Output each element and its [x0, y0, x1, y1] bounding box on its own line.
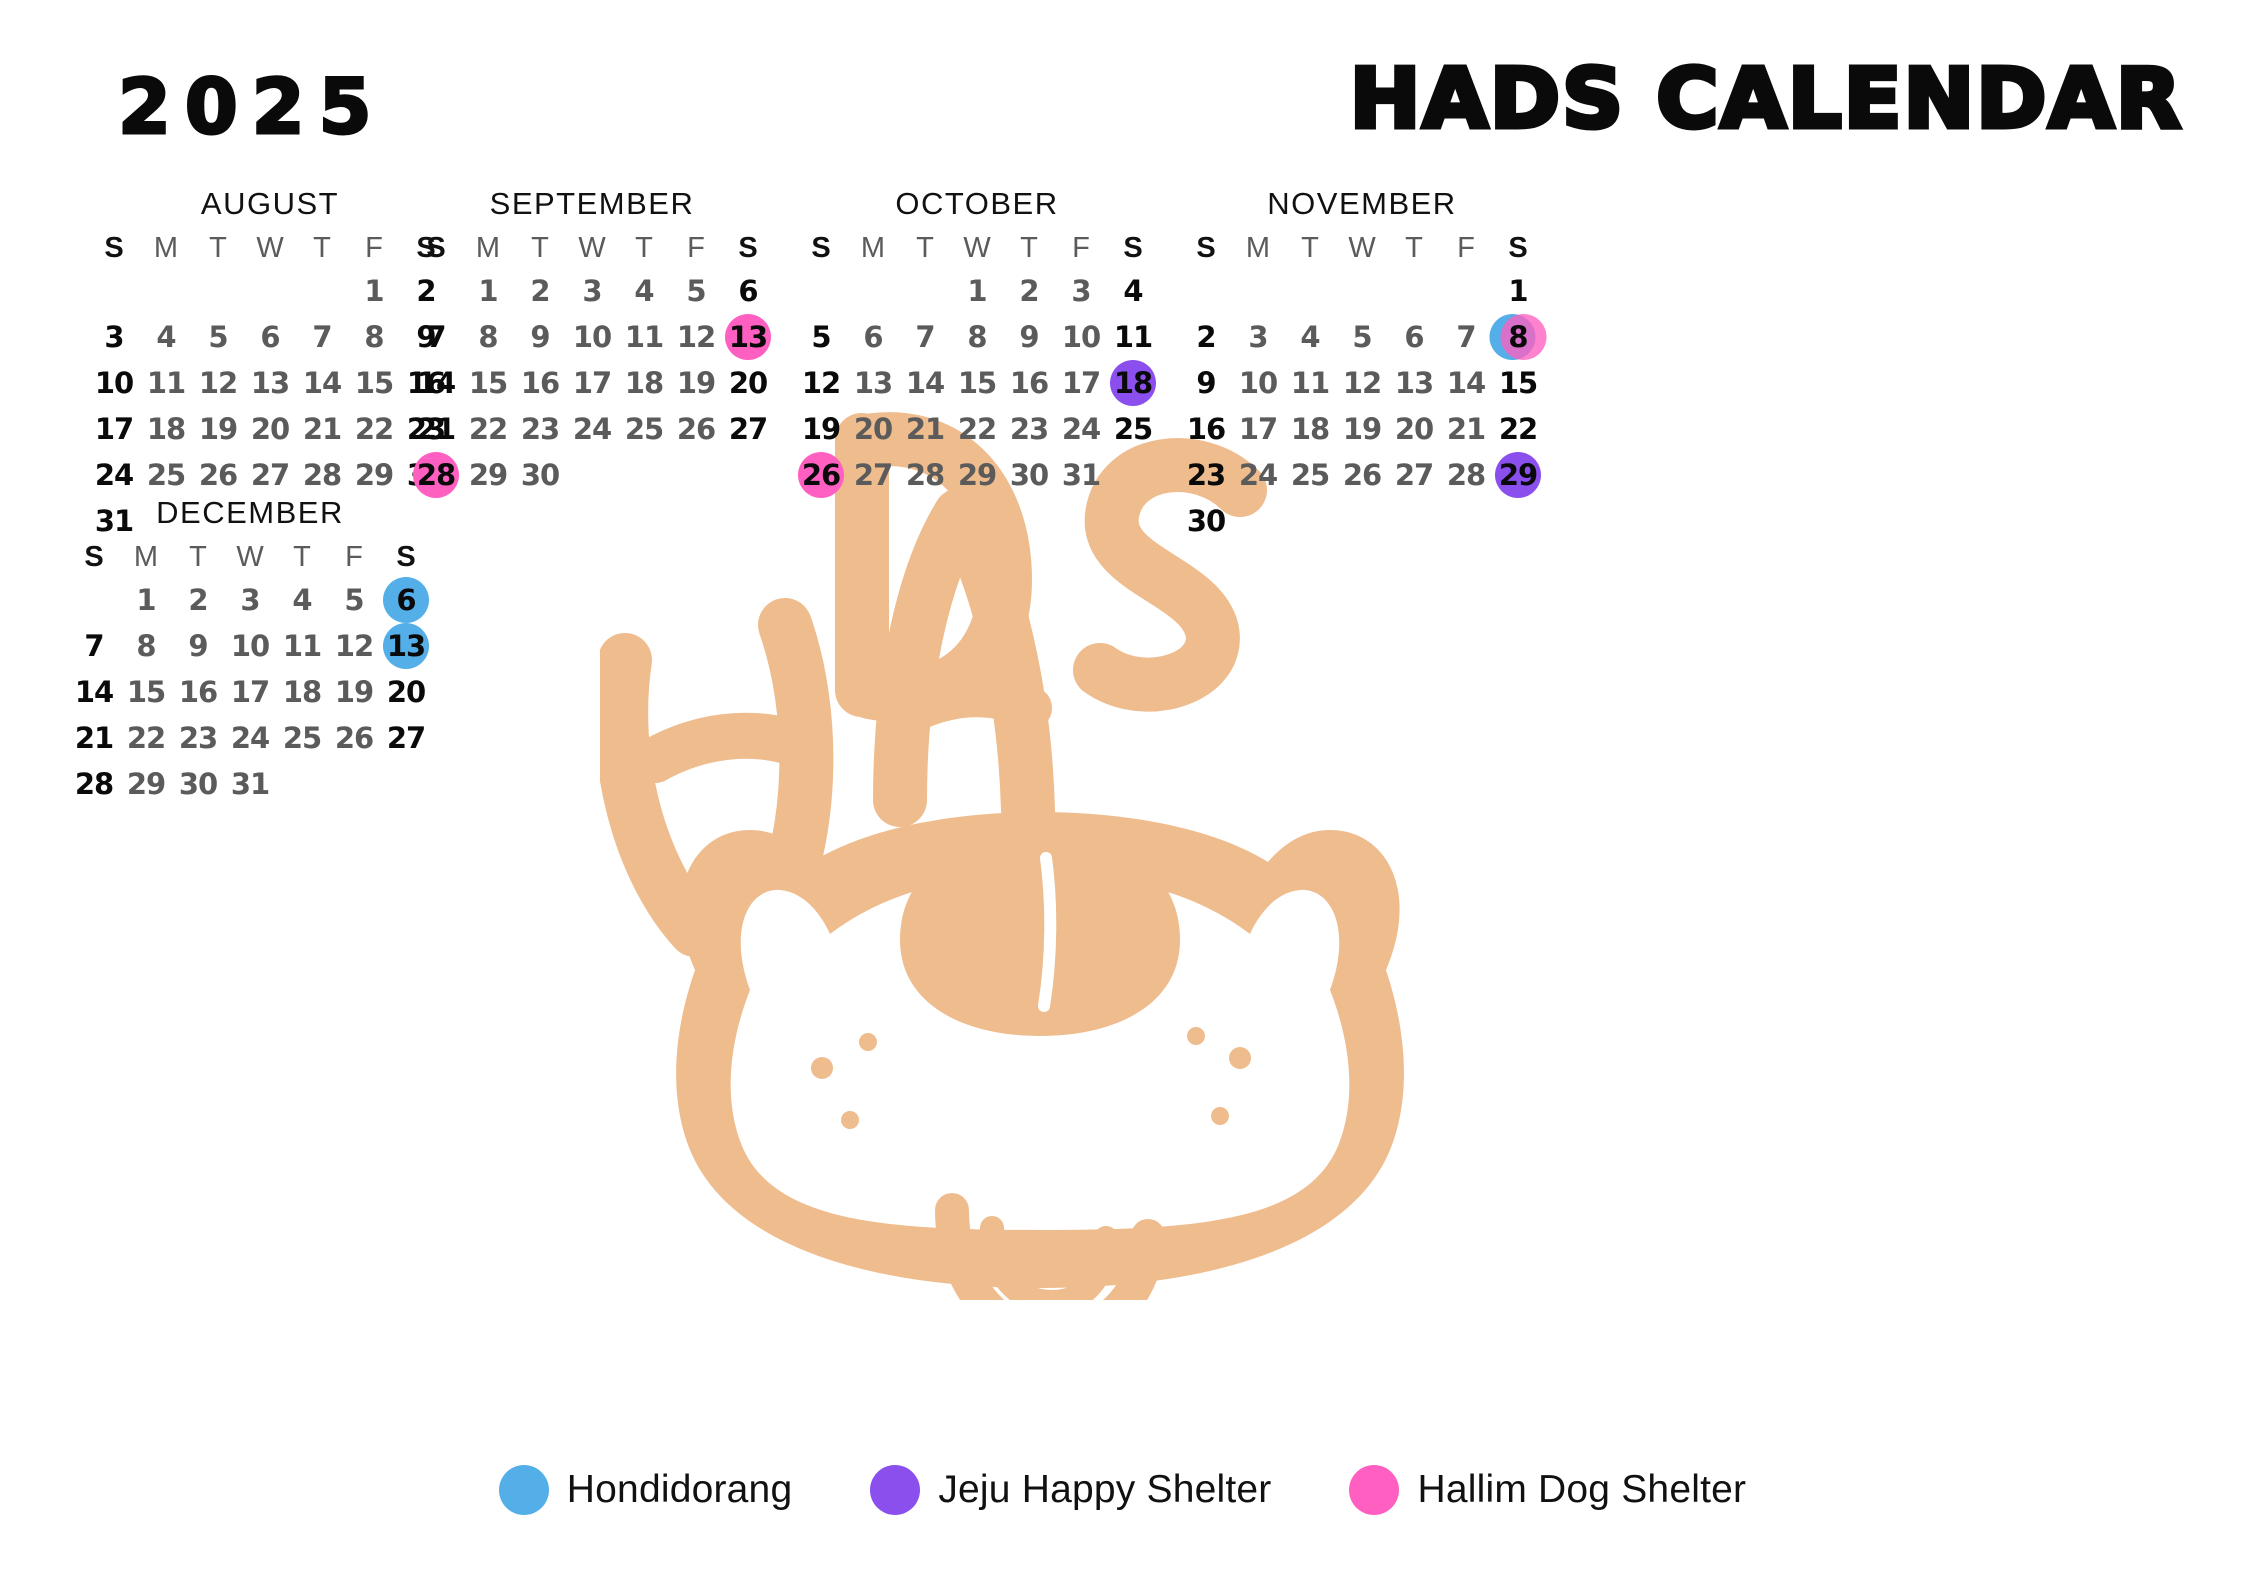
calendar-day-august-18[interactable]: 18 — [140, 406, 192, 452]
calendar-day-november-12[interactable]: 12 — [1336, 360, 1388, 406]
calendar-day-october-8[interactable]: 8 — [951, 314, 1003, 360]
calendar-day-october-27[interactable]: 27 — [847, 452, 899, 498]
calendar-day-december-14[interactable]: 14 — [68, 669, 120, 715]
day-number: 31 — [231, 761, 269, 807]
calendar-day-september-24[interactable]: 24 — [566, 406, 618, 452]
legend-item-hallim-dog-shelter: Hallim Dog Shelter — [1349, 1465, 1746, 1515]
calendar-day-august-8[interactable]: 8 — [348, 314, 400, 360]
day-number: 28 — [1447, 452, 1485, 498]
legend: HondidorangJeju Happy ShelterHallim Dog … — [0, 1465, 2245, 1515]
day-number: 2 — [1196, 314, 1215, 360]
calendar-week-row: 28293031 — [68, 761, 432, 807]
day-number: 19 — [199, 406, 237, 452]
calendar-day-september-19[interactable]: 19 — [670, 360, 722, 406]
calendar-day-november-4[interactable]: 4 — [1284, 314, 1336, 360]
calendar-day-october-19[interactable]: 19 — [795, 406, 847, 452]
day-number: 25 — [625, 406, 663, 452]
calendar-day-october-22[interactable]: 22 — [951, 406, 1003, 452]
calendar-day-september-30[interactable]: 30 — [514, 452, 566, 498]
day-number: 24 — [1062, 406, 1100, 452]
calendar-day-november-3[interactable]: 3 — [1232, 314, 1284, 360]
calendar-day-october-2[interactable]: 2 — [1003, 268, 1055, 314]
day-number: 24 — [573, 406, 611, 452]
day-number: 1 — [967, 268, 986, 314]
weekday-header-2: T — [899, 228, 951, 268]
calendar-day-december-18[interactable]: 18 — [276, 669, 328, 715]
day-number: 23 — [179, 715, 217, 761]
year-label: 2025 — [118, 62, 386, 151]
calendar-day-august-21[interactable]: 21 — [296, 406, 348, 452]
weekday-header-6: S — [1492, 228, 1544, 268]
calendar-day-november-8[interactable]: 8 — [1492, 314, 1544, 360]
day-number: 28 — [906, 452, 944, 498]
day-number: 25 — [283, 715, 321, 761]
day-number: 17 — [573, 360, 611, 406]
calendar-day-august-14[interactable]: 14 — [296, 360, 348, 406]
day-number: 29 — [1499, 452, 1537, 498]
calendar-day-november-11[interactable]: 11 — [1284, 360, 1336, 406]
calendar-day-october-15[interactable]: 15 — [951, 360, 1003, 406]
calendar-week-row: 78910111213 — [68, 623, 432, 669]
weekday-header-row: SMTWTFS — [88, 228, 452, 268]
day-number: 4 — [156, 314, 175, 360]
day-number: 20 — [251, 406, 289, 452]
day-number: 19 — [335, 669, 373, 715]
day-number: 4 — [292, 577, 311, 623]
calendar-day-november-30[interactable]: 30 — [1180, 498, 1232, 544]
weekday-header-3: W — [224, 537, 276, 577]
calendar-day-august-28[interactable]: 28 — [296, 452, 348, 498]
day-number: 6 — [863, 314, 882, 360]
month-block-december: DECEMBERSMTWTFS1234567891011121314151617… — [68, 495, 432, 807]
calendar-day-empty — [847, 268, 899, 314]
calendar-day-august-25[interactable]: 25 — [140, 452, 192, 498]
calendar-day-december-23[interactable]: 23 — [172, 715, 224, 761]
day-number: 25 — [1114, 406, 1152, 452]
calendar-day-september-20[interactable]: 20 — [722, 360, 774, 406]
calendar-day-december-25[interactable]: 25 — [276, 715, 328, 761]
calendar-day-empty — [192, 268, 244, 314]
calendar-day-december-15[interactable]: 15 — [120, 669, 172, 715]
day-number: 1 — [136, 577, 155, 623]
calendar-day-september-8[interactable]: 8 — [462, 314, 514, 360]
day-number: 18 — [283, 669, 321, 715]
calendar-day-november-2[interactable]: 2 — [1180, 314, 1232, 360]
weekday-header-1: M — [140, 228, 192, 268]
calendar-week-row: 24252627282930 — [88, 452, 452, 498]
day-number: 23 — [1187, 452, 1225, 498]
legend-label: Jeju Happy Shelter — [938, 1468, 1271, 1512]
calendar-day-empty — [296, 268, 348, 314]
day-number: 16 — [179, 669, 217, 715]
calendar-day-september-17[interactable]: 17 — [566, 360, 618, 406]
calendar-day-august-11[interactable]: 11 — [140, 360, 192, 406]
calendar-day-october-12[interactable]: 12 — [795, 360, 847, 406]
calendar-day-empty — [1336, 268, 1388, 314]
calendar-day-november-26[interactable]: 26 — [1336, 452, 1388, 498]
calendar-day-october-5[interactable]: 5 — [795, 314, 847, 360]
calendar-day-september-16[interactable]: 16 — [514, 360, 566, 406]
calendar-day-september-23[interactable]: 23 — [514, 406, 566, 452]
day-number: 13 — [854, 360, 892, 406]
calendar-day-december-5[interactable]: 5 — [328, 577, 380, 623]
weekday-header-5: F — [670, 228, 722, 268]
calendar-day-october-18[interactable]: 18 — [1107, 360, 1159, 406]
calendar-week-row: 78910111213 — [410, 314, 774, 360]
day-number: 8 — [136, 623, 155, 669]
calendar-day-november-5[interactable]: 5 — [1336, 314, 1388, 360]
day-number: 4 — [1123, 268, 1142, 314]
calendar-day-empty — [1388, 498, 1440, 544]
calendar-day-october-4[interactable]: 4 — [1107, 268, 1159, 314]
weekday-header-row: SMTWTFS — [410, 228, 774, 268]
calendar-day-august-17[interactable]: 17 — [88, 406, 140, 452]
calendar-day-september-28[interactable]: 28 — [410, 452, 462, 498]
calendar-day-september-29[interactable]: 29 — [462, 452, 514, 498]
day-number: 5 — [1352, 314, 1371, 360]
day-number: 7 — [312, 314, 331, 360]
calendar-day-september-7[interactable]: 7 — [410, 314, 462, 360]
weekday-header-5: F — [328, 537, 380, 577]
day-number: 5 — [811, 314, 830, 360]
day-number: 19 — [677, 360, 715, 406]
calendar-day-august-6[interactable]: 6 — [244, 314, 296, 360]
calendar-day-august-29[interactable]: 29 — [348, 452, 400, 498]
calendar-day-october-28[interactable]: 28 — [899, 452, 951, 498]
day-number: 6 — [396, 577, 415, 623]
calendar-day-december-10[interactable]: 10 — [224, 623, 276, 669]
calendar-week-row: 14151617181920 — [68, 669, 432, 715]
day-number: 13 — [1395, 360, 1433, 406]
day-number: 18 — [1291, 406, 1329, 452]
day-number: 26 — [335, 715, 373, 761]
day-number: 9 — [1019, 314, 1038, 360]
calendar-day-december-21[interactable]: 21 — [68, 715, 120, 761]
calendar-day-october-24[interactable]: 24 — [1055, 406, 1107, 452]
calendar-day-september-22[interactable]: 22 — [462, 406, 514, 452]
calendar-day-december-22[interactable]: 22 — [120, 715, 172, 761]
calendar-day-october-6[interactable]: 6 — [847, 314, 899, 360]
calendar-day-december-26[interactable]: 26 — [328, 715, 380, 761]
calendar-day-december-31[interactable]: 31 — [224, 761, 276, 807]
day-number: 15 — [1499, 360, 1537, 406]
calendar-day-october-30[interactable]: 30 — [1003, 452, 1055, 498]
calendar-day-august-12[interactable]: 12 — [192, 360, 244, 406]
calendar-day-august-13[interactable]: 13 — [244, 360, 296, 406]
day-number: 9 — [530, 314, 549, 360]
calendar-day-november-15[interactable]: 15 — [1492, 360, 1544, 406]
calendar-day-september-14[interactable]: 14 — [410, 360, 462, 406]
calendar-week-row: 2345678 — [1180, 314, 1544, 360]
calendar-week-row: 14151617181920 — [410, 360, 774, 406]
calendar-day-empty — [670, 452, 722, 498]
calendar-day-november-14[interactable]: 14 — [1440, 360, 1492, 406]
calendar-grid-december: SMTWTFS123456789101112131415161718192021… — [68, 537, 432, 807]
day-number: 1 — [364, 268, 383, 314]
weekday-header-5: F — [1440, 228, 1492, 268]
day-number: 7 — [1456, 314, 1475, 360]
calendar-day-october-17[interactable]: 17 — [1055, 360, 1107, 406]
calendar-day-november-21[interactable]: 21 — [1440, 406, 1492, 452]
calendar-day-august-22[interactable]: 22 — [348, 406, 400, 452]
calendar-day-september-10[interactable]: 10 — [566, 314, 618, 360]
day-number: 30 — [1010, 452, 1048, 498]
calendar-day-october-1[interactable]: 1 — [951, 268, 1003, 314]
day-number: 15 — [469, 360, 507, 406]
calendar-week-row: 30 — [1180, 498, 1544, 544]
calendar-day-october-29[interactable]: 29 — [951, 452, 1003, 498]
calendar-day-december-16[interactable]: 16 — [172, 669, 224, 715]
day-number: 19 — [802, 406, 840, 452]
calendar-day-september-12[interactable]: 12 — [670, 314, 722, 360]
calendar-day-december-20[interactable]: 20 — [380, 669, 432, 715]
calendar-day-november-23[interactable]: 23 — [1180, 452, 1232, 498]
day-number: 6 — [260, 314, 279, 360]
calendar-day-november-16[interactable]: 16 — [1180, 406, 1232, 452]
calendar-day-october-7[interactable]: 7 — [899, 314, 951, 360]
calendar-week-row: 1234 — [795, 268, 1159, 314]
day-number: 20 — [387, 669, 425, 715]
legend-item-hondidorang: Hondidorang — [499, 1465, 793, 1515]
calendar-day-september-18[interactable]: 18 — [618, 360, 670, 406]
day-number: 29 — [127, 761, 165, 807]
calendar-week-row: 21222324252627 — [68, 715, 432, 761]
calendar-day-december-7[interactable]: 7 — [68, 623, 120, 669]
calendar-day-december-13[interactable]: 13 — [380, 623, 432, 669]
calendar-day-december-27[interactable]: 27 — [380, 715, 432, 761]
calendar-day-empty — [1284, 498, 1336, 544]
month-name-september: SEPTEMBER — [410, 186, 774, 222]
calendar-day-december-28[interactable]: 28 — [68, 761, 120, 807]
calendar-day-november-28[interactable]: 28 — [1440, 452, 1492, 498]
calendar-day-september-6[interactable]: 6 — [722, 268, 774, 314]
weekday-header-2: T — [172, 537, 224, 577]
calendar-day-august-27[interactable]: 27 — [244, 452, 296, 498]
calendar-day-november-19[interactable]: 19 — [1336, 406, 1388, 452]
calendar-day-december-12[interactable]: 12 — [328, 623, 380, 669]
legend-dot-jeju-happy-shelter — [870, 1465, 920, 1515]
calendar-day-august-20[interactable]: 20 — [244, 406, 296, 452]
calendar-day-december-3[interactable]: 3 — [224, 577, 276, 623]
calendar-day-empty — [618, 452, 670, 498]
calendar-day-september-5[interactable]: 5 — [670, 268, 722, 314]
calendar-day-october-9[interactable]: 9 — [1003, 314, 1055, 360]
calendar-day-october-20[interactable]: 20 — [847, 406, 899, 452]
calendar-week-row: 123456 — [410, 268, 774, 314]
day-number: 24 — [95, 452, 133, 498]
calendar-day-october-21[interactable]: 21 — [899, 406, 951, 452]
weekday-header-0: S — [88, 228, 140, 268]
calendar-day-november-6[interactable]: 6 — [1388, 314, 1440, 360]
calendar-week-row: 123456 — [68, 577, 432, 623]
calendar-day-september-2[interactable]: 2 — [514, 268, 566, 314]
day-number: 4 — [1300, 314, 1319, 360]
calendar-day-november-10[interactable]: 10 — [1232, 360, 1284, 406]
calendar-day-august-19[interactable]: 19 — [192, 406, 244, 452]
day-number: 5 — [344, 577, 363, 623]
calendar-grid-november: SMTWTFS123456789101112131415161718192021… — [1180, 228, 1544, 544]
calendar-day-december-1[interactable]: 1 — [120, 577, 172, 623]
calendar-day-september-26[interactable]: 26 — [670, 406, 722, 452]
day-number: 3 — [1071, 268, 1090, 314]
calendar-day-december-8[interactable]: 8 — [120, 623, 172, 669]
day-number: 29 — [958, 452, 996, 498]
calendar-day-august-15[interactable]: 15 — [348, 360, 400, 406]
weekday-header-0: S — [410, 228, 462, 268]
calendar-day-november-1[interactable]: 1 — [1492, 268, 1544, 314]
calendar-day-october-25[interactable]: 25 — [1107, 406, 1159, 452]
calendar-day-september-9[interactable]: 9 — [514, 314, 566, 360]
legend-dot-hondidorang — [499, 1465, 549, 1515]
day-number: 27 — [1395, 452, 1433, 498]
day-number: 26 — [199, 452, 237, 498]
day-number: 29 — [355, 452, 393, 498]
calendar-day-november-17[interactable]: 17 — [1232, 406, 1284, 452]
calendar-day-november-18[interactable]: 18 — [1284, 406, 1336, 452]
calendar-day-october-31[interactable]: 31 — [1055, 452, 1107, 498]
day-number: 8 — [1508, 314, 1527, 360]
calendar-day-november-27[interactable]: 27 — [1388, 452, 1440, 498]
day-number: 14 — [303, 360, 341, 406]
calendar-day-august-26[interactable]: 26 — [192, 452, 244, 498]
calendar-day-empty — [1440, 498, 1492, 544]
day-number: 5 — [686, 268, 705, 314]
calendar-day-empty — [1232, 498, 1284, 544]
day-number: 22 — [958, 406, 996, 452]
calendar-day-september-11[interactable]: 11 — [618, 314, 670, 360]
day-number: 27 — [854, 452, 892, 498]
day-number: 21 — [417, 406, 455, 452]
calendar-day-september-25[interactable]: 25 — [618, 406, 670, 452]
calendar-day-december-9[interactable]: 9 — [172, 623, 224, 669]
day-number: 18 — [147, 406, 185, 452]
day-number: 31 — [1062, 452, 1100, 498]
calendar-day-october-14[interactable]: 14 — [899, 360, 951, 406]
weekday-header-1: M — [462, 228, 514, 268]
calendar-day-september-1[interactable]: 1 — [462, 268, 514, 314]
day-number: 21 — [1447, 406, 1485, 452]
day-number: 10 — [1062, 314, 1100, 360]
day-number: 10 — [1239, 360, 1277, 406]
calendar-day-august-4[interactable]: 4 — [140, 314, 192, 360]
calendar-day-august-5[interactable]: 5 — [192, 314, 244, 360]
calendar-day-november-20[interactable]: 20 — [1388, 406, 1440, 452]
day-number: 3 — [1248, 314, 1267, 360]
calendar-day-december-19[interactable]: 19 — [328, 669, 380, 715]
day-number: 7 — [426, 314, 445, 360]
calendar-day-empty — [410, 268, 462, 314]
day-number: 5 — [208, 314, 227, 360]
calendar-day-november-22[interactable]: 22 — [1492, 406, 1544, 452]
day-number: 8 — [364, 314, 383, 360]
calendar-day-august-7[interactable]: 7 — [296, 314, 348, 360]
calendar-day-december-11[interactable]: 11 — [276, 623, 328, 669]
calendar-day-november-29[interactable]: 29 — [1492, 452, 1544, 498]
day-number: 8 — [967, 314, 986, 360]
day-number: 28 — [75, 761, 113, 807]
day-number: 14 — [417, 360, 455, 406]
calendar-day-october-26[interactable]: 26 — [795, 452, 847, 498]
calendar-day-september-21[interactable]: 21 — [410, 406, 462, 452]
month-block-november: NOVEMBERSMTWTFS1234567891011121314151617… — [1180, 186, 1544, 544]
day-number: 17 — [95, 406, 133, 452]
day-number: 15 — [355, 360, 393, 406]
calendar-day-empty — [1284, 268, 1336, 314]
weekday-header-5: F — [1055, 228, 1107, 268]
calendar-day-december-29[interactable]: 29 — [120, 761, 172, 807]
calendar-week-row: 19202122232425 — [795, 406, 1159, 452]
weekday-header-2: T — [192, 228, 244, 268]
calendar-day-december-4[interactable]: 4 — [276, 577, 328, 623]
calendar-day-december-24[interactable]: 24 — [224, 715, 276, 761]
day-number: 14 — [75, 669, 113, 715]
calendar-day-empty — [899, 268, 951, 314]
calendar-day-empty — [566, 452, 618, 498]
weekday-header-3: W — [566, 228, 618, 268]
calendar-day-august-1[interactable]: 1 — [348, 268, 400, 314]
month-block-august: AUGUSTSMTWTFS123456789101112131415161718… — [88, 186, 452, 544]
calendar-day-empty — [140, 268, 192, 314]
calendar-day-august-24[interactable]: 24 — [88, 452, 140, 498]
day-number: 9 — [188, 623, 207, 669]
calendar-day-empty — [68, 577, 120, 623]
day-number: 26 — [1343, 452, 1381, 498]
calendar-week-row: 567891011 — [795, 314, 1159, 360]
calendar-day-september-13[interactable]: 13 — [722, 314, 774, 360]
calendar-day-september-15[interactable]: 15 — [462, 360, 514, 406]
calendar-day-november-24[interactable]: 24 — [1232, 452, 1284, 498]
calendar-day-october-3[interactable]: 3 — [1055, 268, 1107, 314]
day-number: 9 — [1196, 360, 1215, 406]
calendar-day-december-6[interactable]: 6 — [380, 577, 432, 623]
page-header: 2025 HADS CALENDAR — [0, 0, 2245, 190]
day-number: 22 — [355, 406, 393, 452]
calendar-day-august-3[interactable]: 3 — [88, 314, 140, 360]
calendar-day-october-23[interactable]: 23 — [1003, 406, 1055, 452]
day-number: 15 — [127, 669, 165, 715]
day-number: 14 — [906, 360, 944, 406]
day-number: 3 — [104, 314, 123, 360]
weekday-header-0: S — [1180, 228, 1232, 268]
day-number: 11 — [1291, 360, 1329, 406]
calendar-week-row: 21222324252627 — [410, 406, 774, 452]
calendar-day-empty — [1232, 268, 1284, 314]
weekday-header-row: SMTWTFS — [68, 537, 432, 577]
day-number: 27 — [387, 715, 425, 761]
calendar-day-december-17[interactable]: 17 — [224, 669, 276, 715]
calendar-day-november-7[interactable]: 7 — [1440, 314, 1492, 360]
calendar-day-september-4[interactable]: 4 — [618, 268, 670, 314]
calendar-day-november-25[interactable]: 25 — [1284, 452, 1336, 498]
day-number: 26 — [802, 452, 840, 498]
calendar-day-november-9[interactable]: 9 — [1180, 360, 1232, 406]
calendar-day-september-3[interactable]: 3 — [566, 268, 618, 314]
calendar-day-september-27[interactable]: 27 — [722, 406, 774, 452]
calendar-day-december-30[interactable]: 30 — [172, 761, 224, 807]
calendar-day-november-13[interactable]: 13 — [1388, 360, 1440, 406]
calendar-day-october-11[interactable]: 11 — [1107, 314, 1159, 360]
day-number: 13 — [729, 314, 767, 360]
calendar-day-august-10[interactable]: 10 — [88, 360, 140, 406]
weekday-header-0: S — [68, 537, 120, 577]
weekday-header-4: T — [1003, 228, 1055, 268]
weekday-header-4: T — [296, 228, 348, 268]
calendar-day-october-10[interactable]: 10 — [1055, 314, 1107, 360]
day-number: 16 — [1187, 406, 1225, 452]
calendar-day-october-13[interactable]: 13 — [847, 360, 899, 406]
calendar-day-october-16[interactable]: 16 — [1003, 360, 1055, 406]
calendar-day-december-2[interactable]: 2 — [172, 577, 224, 623]
